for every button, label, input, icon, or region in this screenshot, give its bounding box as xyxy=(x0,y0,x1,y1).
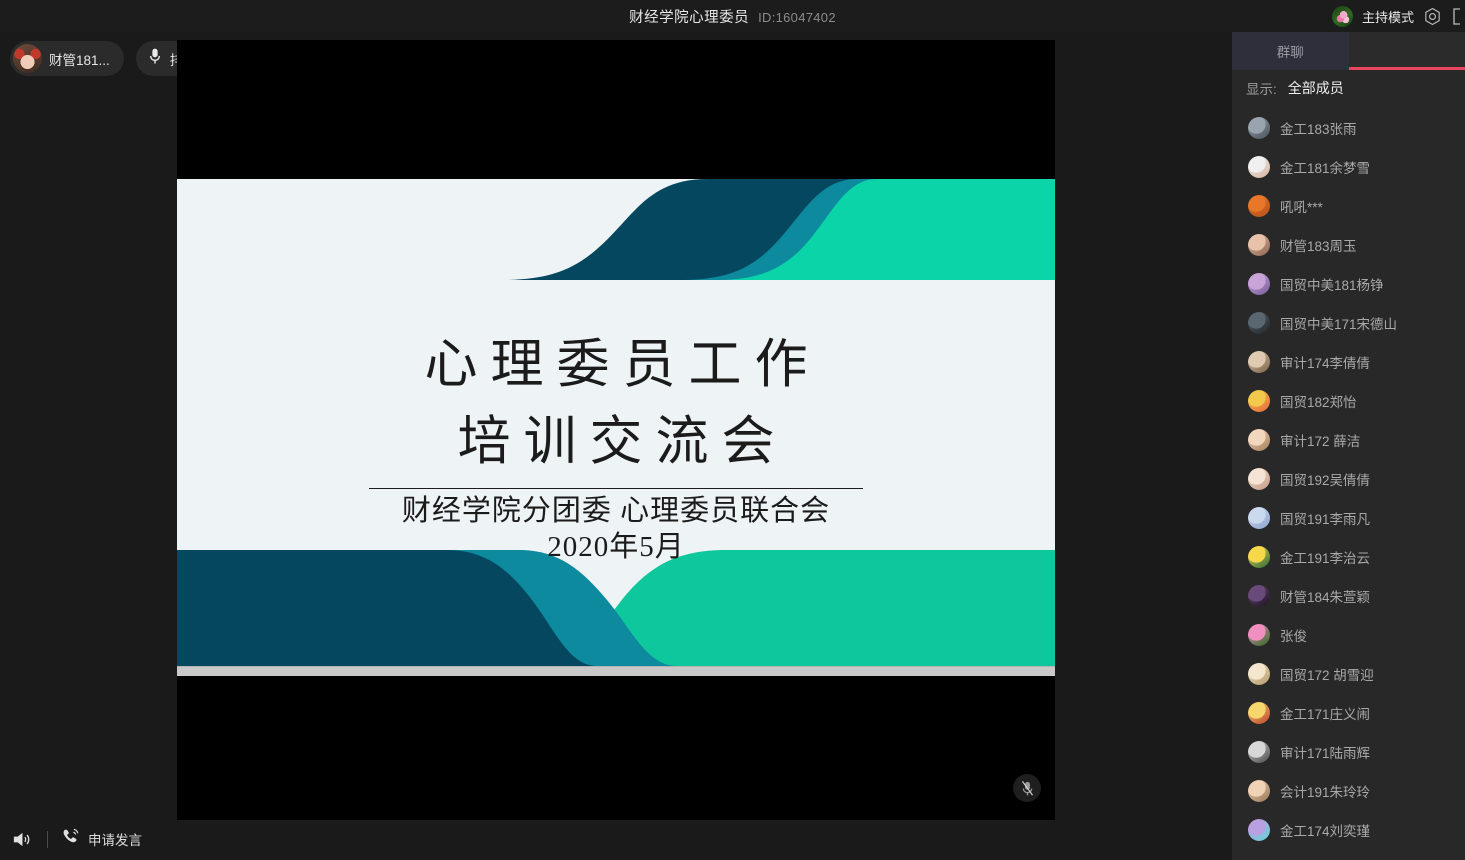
member-name: 国贸172 胡雪迎 xyxy=(1280,664,1374,684)
avatar xyxy=(1248,312,1270,334)
request-speak-label: 申请发言 xyxy=(88,829,142,849)
avatar xyxy=(1248,585,1270,607)
avatar xyxy=(1248,351,1270,373)
fullscreen-icon[interactable] xyxy=(1451,7,1463,26)
avatar xyxy=(1248,156,1270,178)
member-name: 金工183张雨 xyxy=(1280,118,1357,138)
avatar xyxy=(1248,429,1270,451)
member-name: 国贸中美181杨铮 xyxy=(1280,274,1384,294)
member-name: 国贸182郑怡 xyxy=(1280,391,1357,411)
meeting-app-window: 财经学院心理委员 ID:16047402 主持模式 财管181... xyxy=(0,0,1465,860)
member-list[interactable]: 金工183张雨金工181余梦雪吼吼***财管183周玉国贸中美181杨铮国贸中美… xyxy=(1232,105,1465,860)
slide-horizontal-scrollbar[interactable] xyxy=(177,666,1055,676)
host-mode-label[interactable]: 主持模式 xyxy=(1362,7,1414,26)
toolbar-divider xyxy=(47,831,48,848)
member-name: 金工171庄义闹 xyxy=(1280,703,1370,723)
side-panel: 群聊 显示: 全部成员 金工183张雨金工181余梦雪吼吼***财管183周玉国… xyxy=(1232,32,1465,860)
avatar xyxy=(1248,780,1270,802)
current-user-chip[interactable]: 财管181... xyxy=(10,41,124,76)
list-item[interactable]: 金工181余梦雪 xyxy=(1232,147,1465,186)
avatar xyxy=(1248,117,1270,139)
slide-title-line-2: 培训交流会 xyxy=(177,404,1055,481)
tab-members[interactable] xyxy=(1349,32,1465,70)
room-title-group: 财经学院心理委员 ID:16047402 xyxy=(629,6,836,27)
avatar xyxy=(1248,624,1270,646)
member-name: 审计172 薛洁 xyxy=(1280,430,1360,450)
member-filter-row: 显示: 全部成员 xyxy=(1232,70,1465,105)
member-name: 审计174李倩倩 xyxy=(1280,352,1370,372)
list-item[interactable]: 财管183周玉 xyxy=(1232,225,1465,264)
slide-title-line-1: 心理委员工作 xyxy=(177,327,1055,404)
avatar xyxy=(1248,741,1270,763)
speaker-icon[interactable] xyxy=(9,827,34,852)
member-name: 财管184朱萱颖 xyxy=(1280,586,1370,606)
avatar xyxy=(1248,702,1270,724)
avatar xyxy=(1248,663,1270,685)
list-item[interactable]: 国贸172 胡雪迎 xyxy=(1232,654,1465,693)
avatar xyxy=(1248,195,1270,217)
list-item[interactable]: 审计174李倩倩 xyxy=(1232,342,1465,381)
member-name: 审计171陆雨辉 xyxy=(1280,742,1370,762)
avatar xyxy=(13,44,42,73)
panel-tab-bar: 群聊 xyxy=(1232,32,1465,70)
avatar xyxy=(1248,819,1270,841)
gear-icon[interactable] xyxy=(1423,7,1442,26)
member-name: 会计191朱玲玲 xyxy=(1280,781,1370,801)
list-item[interactable]: 审计172 薛洁 xyxy=(1232,420,1465,459)
slide-subtitle-line-2: 2020年5月 xyxy=(177,530,1055,565)
list-item[interactable]: 审计171陆雨辉 xyxy=(1232,732,1465,771)
avatar xyxy=(1248,390,1270,412)
list-item[interactable]: 金工191李治云 xyxy=(1232,537,1465,576)
member-name: 吼吼*** xyxy=(1280,196,1323,216)
list-item[interactable]: 国贸182郑怡 xyxy=(1232,381,1465,420)
slide-divider xyxy=(369,488,863,490)
slide-subtitle-line-1: 财经学院分团委 心理委员联合会 xyxy=(177,494,1055,529)
list-item[interactable]: 吼吼*** xyxy=(1232,186,1465,225)
member-name: 国贸191李雨凡 xyxy=(1280,508,1370,528)
top-bar: 财经学院心理委员 ID:16047402 主持模式 xyxy=(0,0,1465,32)
member-name: 国贸192吴倩倩 xyxy=(1280,469,1370,489)
member-name: 金工191李治云 xyxy=(1280,547,1370,567)
avatar xyxy=(1248,273,1270,295)
room-id-label: ID:16047402 xyxy=(758,10,836,25)
avatar xyxy=(1248,234,1270,256)
list-item[interactable]: 金工183张雨 xyxy=(1232,108,1465,147)
list-item[interactable]: 张俊 xyxy=(1232,615,1465,654)
avatar xyxy=(1248,507,1270,529)
list-item[interactable]: 国贸191李雨凡 xyxy=(1232,498,1465,537)
phone-call-icon xyxy=(61,827,80,851)
avatar xyxy=(1248,468,1270,490)
member-filter-label: 显示: xyxy=(1246,78,1277,98)
current-user-name: 财管181... xyxy=(49,49,110,69)
slide-wave-top-decoration xyxy=(177,179,1055,289)
member-filter-value[interactable]: 全部成员 xyxy=(1288,78,1344,98)
list-item[interactable]: 国贸中美181杨铮 xyxy=(1232,264,1465,303)
page-title: 财经学院心理委员 xyxy=(629,6,749,27)
bottom-toolbar: 申请发言 xyxy=(0,818,1232,860)
request-speak-button[interactable]: 申请发言 xyxy=(61,827,142,851)
member-name: 金工181余梦雪 xyxy=(1280,157,1370,177)
list-item[interactable]: 国贸中美171宋德山 xyxy=(1232,303,1465,342)
microphone-muted-icon xyxy=(1013,774,1041,802)
tab-group-chat[interactable]: 群聊 xyxy=(1232,32,1349,70)
member-name: 金工174刘奕瑾 xyxy=(1280,820,1370,840)
member-name: 国贸中美171宋德山 xyxy=(1280,313,1397,333)
avatar xyxy=(1248,546,1270,568)
video-stage[interactable]: 心理委员工作 培训交流会 财经学院分团委 心理委员联合会 2020年5月 xyxy=(177,40,1055,820)
member-name: 张俊 xyxy=(1280,625,1307,645)
top-bar-right-controls: 主持模式 xyxy=(1332,0,1465,32)
list-item[interactable]: 国贸192吴倩倩 xyxy=(1232,459,1465,498)
list-item[interactable]: 金工174刘奕瑾 xyxy=(1232,810,1465,849)
list-item[interactable]: 金工171庄义闹 xyxy=(1232,693,1465,732)
host-avatar xyxy=(1332,6,1353,27)
slide-text-block: 心理委员工作 培训交流会 财经学院分团委 心理委员联合会 2020年5月 xyxy=(177,327,1055,565)
list-item[interactable]: 财管184朱萱颖 xyxy=(1232,576,1465,615)
microphone-icon xyxy=(148,47,162,70)
shared-slide: 心理委员工作 培训交流会 财经学院分团委 心理委员联合会 2020年5月 xyxy=(177,179,1055,676)
list-item[interactable]: 会计191朱玲玲 xyxy=(1232,771,1465,810)
member-name: 财管183周玉 xyxy=(1280,235,1357,255)
